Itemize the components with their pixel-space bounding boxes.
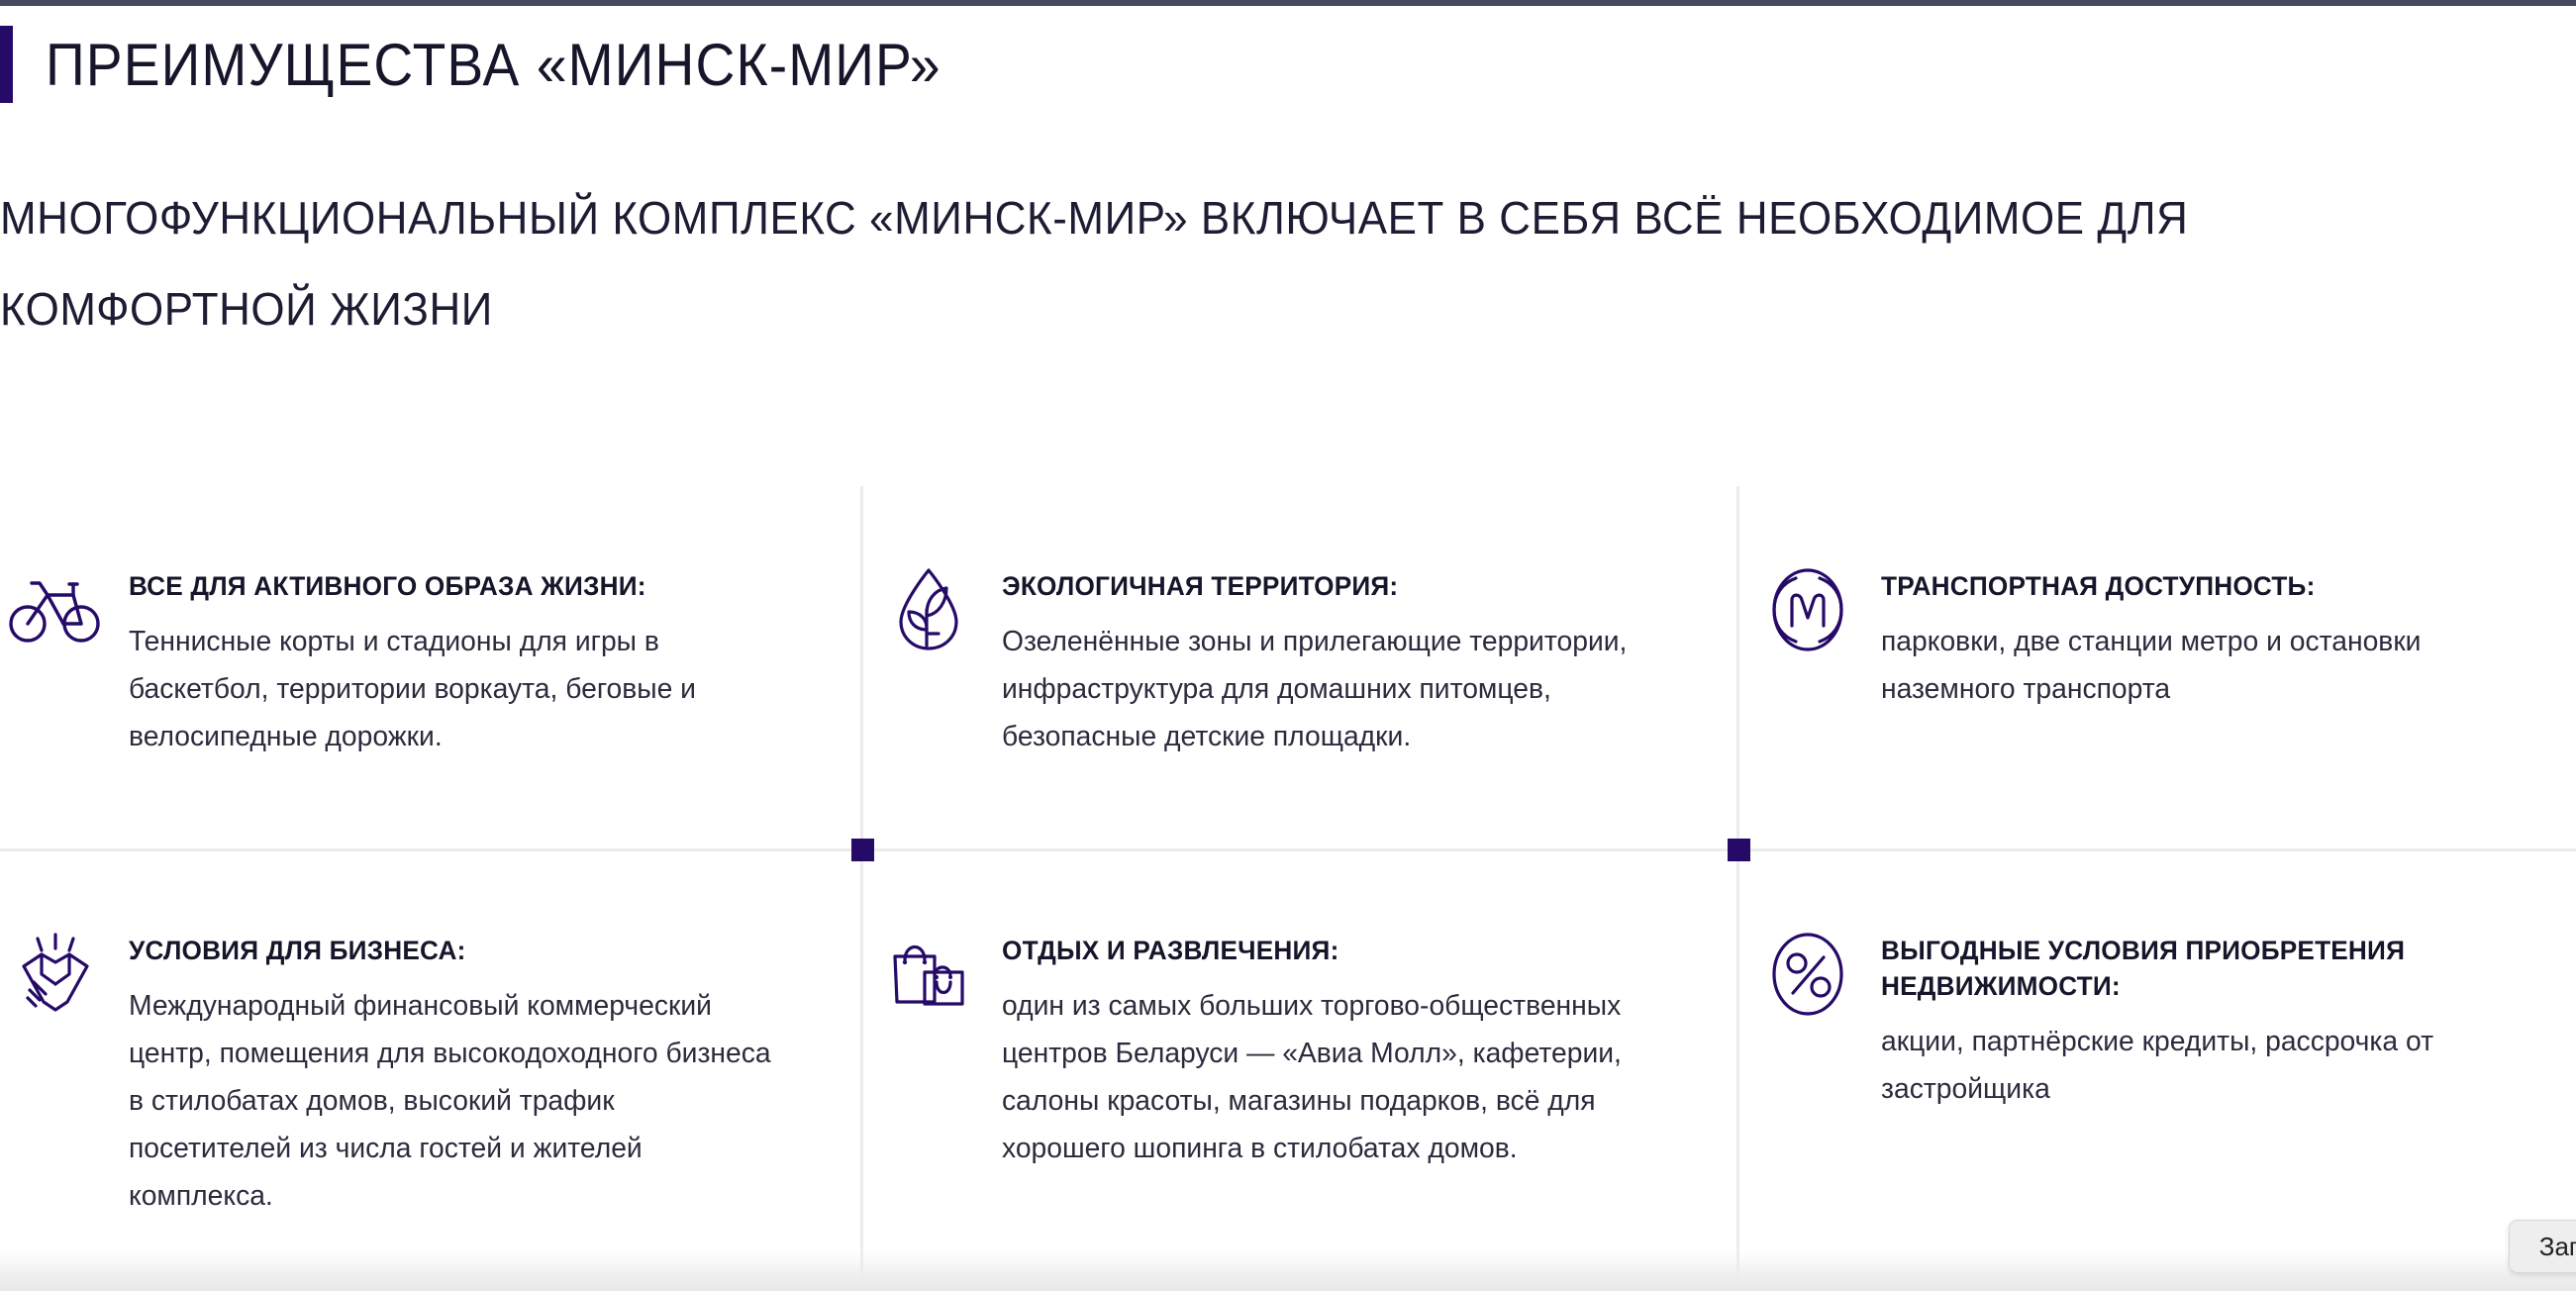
shopping-bags-icon bbox=[881, 927, 976, 1022]
callback-widget-button[interactable]: Зап bbox=[2509, 1220, 2576, 1273]
card-text: акции, партнёрские кредиты, рассрочка от… bbox=[1881, 1018, 2555, 1113]
card-title: ЭКОЛОГИЧНАЯ ТЕРРИТОРИЯ: bbox=[1002, 568, 1653, 604]
card-body: ВСЕ ДЛЯ АКТИВНОГО ОБРАЗА ЖИЗНИ: Теннисны… bbox=[129, 562, 800, 760]
metro-icon bbox=[1760, 562, 1855, 657]
card-title: ВЫГОДНЫЕ УСЛОВИЯ ПРИОБРЕТЕНИЯ НЕДВИЖИМОС… bbox=[1881, 933, 2551, 1004]
column-divider-1 bbox=[860, 486, 863, 1288]
feature-card-transport: ТРАНСПОРТНАЯ ДОСТУПНОСТЬ: парковки, две … bbox=[1760, 562, 2552, 713]
feature-card-leisure: ОТДЫХ И РАЗВЛЕЧЕНИЯ: один из самых больш… bbox=[881, 927, 1673, 1172]
card-title: ТРАНСПОРТНАЯ ДОСТУПНОСТЬ: bbox=[1881, 568, 2532, 604]
card-text: парковки, две станции метро и остановки … bbox=[1881, 618, 2535, 713]
eco-leaf-droplet-icon bbox=[881, 562, 976, 657]
card-body: ЭКОЛОГИЧНАЯ ТЕРРИТОРИЯ: Озеленённые зоны… bbox=[1002, 562, 1673, 760]
feature-card-purchase-terms: ВЫГОДНЫЕ УСЛОВИЯ ПРИОБРЕТЕНИЯ НЕДВИЖИМОС… bbox=[1760, 927, 2572, 1113]
card-title: УСЛОВИЯ ДЛЯ БИЗНЕСА: bbox=[129, 933, 780, 968]
card-text: Международный финансовый коммерческий це… bbox=[129, 982, 783, 1220]
card-body: ВЫГОДНЫЕ УСЛОВИЯ ПРИОБРЕТЕНИЯ НЕДВИЖИМОС… bbox=[1881, 927, 2572, 1113]
grid-node-marker-1 bbox=[851, 839, 874, 861]
handshake-icon bbox=[8, 927, 103, 1022]
bicycle-icon bbox=[8, 562, 103, 657]
feature-card-business: УСЛОВИЯ ДЛЯ БИЗНЕСА: Международный финан… bbox=[8, 927, 800, 1220]
row-divider bbox=[0, 848, 2576, 851]
page-bottom-strip bbox=[0, 1251, 2576, 1291]
page-subtitle: МНОГОФУНКЦИОНАЛЬНЫЙ КОМПЛЕКС «МИНСК-МИР»… bbox=[0, 172, 2460, 354]
card-text: Теннисные корты и стадионы для игры в ба… bbox=[129, 618, 783, 760]
card-text: Озеленённые зоны и прилегающие территори… bbox=[1002, 618, 1656, 760]
percent-icon bbox=[1760, 927, 1855, 1022]
title-accent-bar bbox=[0, 26, 13, 103]
card-body: ОТДЫХ И РАЗВЛЕЧЕНИЯ: один из самых больш… bbox=[1002, 927, 1673, 1172]
card-body: ТРАНСПОРТНАЯ ДОСТУПНОСТЬ: парковки, две … bbox=[1881, 562, 2552, 713]
card-title: ВСЕ ДЛЯ АКТИВНОГО ОБРАЗА ЖИЗНИ: bbox=[129, 568, 780, 604]
page-content: ПРЕИМУЩЕСТВА «МИНСК-МИР» МНОГОФУНКЦИОНАЛ… bbox=[0, 6, 2576, 1291]
feature-card-active-lifestyle: ВСЕ ДЛЯ АКТИВНОГО ОБРАЗА ЖИЗНИ: Теннисны… bbox=[8, 562, 800, 760]
card-text: один из самых больших торгово-общественн… bbox=[1002, 982, 1656, 1172]
page-title: ПРЕИМУЩЕСТВА «МИНСК-МИР» bbox=[46, 24, 941, 107]
card-title: ОТДЫХ И РАЗВЛЕЧЕНИЯ: bbox=[1002, 933, 1653, 968]
page-header: ПРЕИМУЩЕСТВА «МИНСК-МИР» bbox=[0, 24, 2576, 113]
grid-node-marker-2 bbox=[1728, 839, 1750, 861]
card-body: УСЛОВИЯ ДЛЯ БИЗНЕСА: Международный финан… bbox=[129, 927, 800, 1220]
column-divider-2 bbox=[1736, 486, 1739, 1288]
callback-widget-label: Зап bbox=[2539, 1232, 2576, 1262]
feature-card-eco-territory: ЭКОЛОГИЧНАЯ ТЕРРИТОРИЯ: Озеленённые зоны… bbox=[881, 562, 1673, 760]
